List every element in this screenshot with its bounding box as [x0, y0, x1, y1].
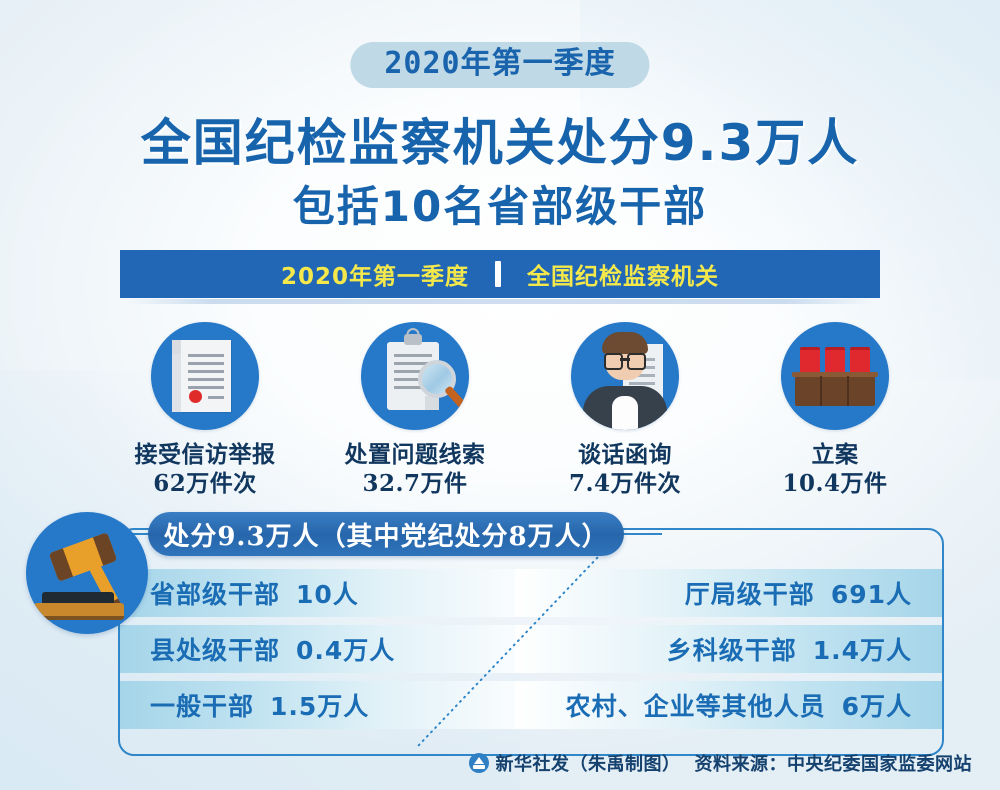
stat-value: 62万件次: [135, 470, 276, 499]
stat-title: 谈话函询: [578, 441, 672, 468]
panel-heading: 处分9.3万人（其中党纪处分8万人）: [148, 512, 624, 556]
stat-label-clues: 处置问题线索 32.7万件: [345, 441, 486, 498]
panel-head-connector-right: [618, 533, 662, 535]
row-cell-right: 农村、企业等其他人员 6万人: [515, 681, 942, 729]
banner-right-text: 全国纪检监察机关: [527, 257, 719, 291]
row-value: 691人: [831, 575, 912, 611]
page-subtitle: 包括10名省部级干部: [0, 173, 1000, 234]
stat-label-inquiry: 谈话函询 7.4万件次: [569, 441, 681, 498]
row-label: 省部级干部: [150, 575, 280, 611]
stat-group: 接受信访举报 62万件次 处置问题线索 32.7: [100, 322, 940, 502]
row-label: 县处级干部: [150, 631, 280, 667]
credit-text: 新华社发（朱禹制图）: [496, 750, 681, 776]
infographic-canvas: 2020年第一季度 全国纪检监察机关处分9.3万人 包括10名省部级干部 202…: [0, 0, 1000, 790]
document-seal-icon: [151, 322, 259, 430]
stat-value: 32.7万件: [345, 470, 486, 499]
table-row: 省部级干部 10人 厅局级干部 691人: [120, 569, 942, 617]
banner-left-text: 2020年第一季度: [281, 257, 469, 291]
clipboard-magnifier-icon: [361, 322, 469, 430]
stat-item-inquiry: 谈话函询 7.4万件次: [520, 322, 730, 502]
row-cell-right: 乡科级干部 1.4万人: [515, 625, 942, 673]
banner-divider: [495, 261, 501, 287]
footer-credit: 新华社发（朱禹制图） 资料来源：中央纪委国家监委网站: [0, 750, 1000, 776]
section-banner: 2020年第一季度 全国纪检监察机关: [120, 250, 880, 298]
stat-value: 10.4万件: [782, 470, 887, 499]
page-title: 全国纪检监察机关处分9.3万人: [0, 103, 1000, 175]
stat-value: 7.4万件次: [569, 470, 681, 499]
row-value: 1.4万人: [813, 631, 912, 667]
row-value: 10人: [296, 575, 359, 611]
row-cell-right: 厅局级干部 691人: [515, 569, 942, 617]
row-value: 6万人: [842, 687, 912, 723]
table-row: 县处级干部 0.4万人 乡科级干部 1.4万人: [120, 625, 942, 673]
stat-item-clues: 处置问题线索 32.7万件: [310, 322, 520, 502]
stat-item-case: 立案 10.4万件: [730, 322, 940, 502]
row-label: 厅局级干部: [685, 575, 815, 611]
books-shelf-icon: [781, 322, 889, 430]
stat-title: 立案: [812, 441, 859, 468]
gavel-icon: [26, 512, 148, 634]
row-label: 乡科级干部: [667, 631, 797, 667]
row-cell-left: 一般干部 1.5万人: [120, 681, 547, 729]
panel-heading-text: 处分9.3万人（其中党纪处分8万人）: [163, 516, 608, 553]
row-label: 一般干部: [150, 687, 254, 723]
row-value: 1.5万人: [270, 687, 369, 723]
stat-label-petition: 接受信访举报 62万件次: [135, 441, 276, 498]
stat-title: 处置问题线索: [345, 441, 486, 468]
glasses-icon: [604, 353, 646, 366]
stat-label-case: 立案 10.4万件: [782, 441, 887, 498]
row-cell-left: 县处级干部 0.4万人: [120, 625, 547, 673]
quarter-badge: 2020年第一季度: [350, 42, 649, 88]
ribbon-shadow: [126, 299, 874, 304]
stat-item-petition: 接受信访举报 62万件次: [100, 322, 310, 502]
row-cell-left: 省部级干部 10人: [120, 569, 547, 617]
row-label: 农村、企业等其他人员: [566, 687, 826, 723]
source-text: 资料来源：中央纪委国家监委网站: [695, 750, 973, 776]
person-interview-icon: [571, 322, 679, 430]
table-row: 一般干部 1.5万人 农村、企业等其他人员 6万人: [120, 681, 942, 729]
xinhua-logo-icon: [469, 753, 489, 773]
stat-title: 接受信访举报: [135, 441, 276, 468]
row-value: 0.4万人: [296, 631, 395, 667]
breakdown-rows: 省部级干部 10人 厅局级干部 691人 县处级干部 0.4万人 乡科级干部 1…: [120, 528, 942, 752]
